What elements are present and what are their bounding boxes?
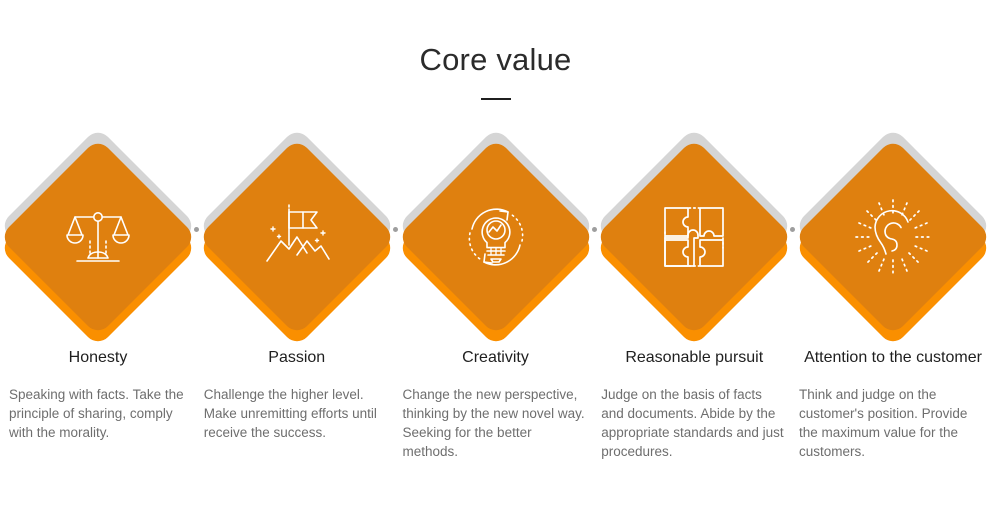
core-value-card: Attention to the customer Think and judg… (795, 130, 991, 461)
core-value-card-list: Honesty Speaking with facts. Take the pr… (0, 130, 991, 461)
lightbulb-refresh-icon (426, 167, 566, 307)
card-title: Reasonable pursuit (625, 347, 763, 369)
card-description: Judge on the basis of facts and document… (601, 385, 787, 461)
flag-on-mountain-icon (227, 167, 367, 307)
diamond-badge-attention-to-the-customer[interactable] (795, 130, 991, 335)
page-title: Core value (0, 40, 991, 80)
card-description: Speaking with facts. Take the principle … (9, 385, 195, 442)
card-title: Attention to the customer (804, 347, 982, 369)
diamond-badge-creativity[interactable] (398, 130, 594, 335)
diamond-badge-reasonable-pursuit[interactable] (596, 130, 792, 335)
core-value-card: Honesty Speaking with facts. Take the pr… (0, 130, 196, 442)
card-title: Honesty (69, 347, 128, 369)
listening-ear-icon (823, 167, 963, 307)
core-value-card: Reasonable pursuit Judge on the basis of… (596, 130, 792, 461)
diamond-badge-passion[interactable] (199, 130, 395, 335)
card-description: Think and judge on the customer's positi… (799, 385, 987, 461)
card-description: Challenge the higher level. Make unremit… (204, 385, 390, 442)
title-divider (481, 98, 511, 100)
diamond-badge-honesty[interactable] (0, 130, 196, 335)
card-description: Change the new perspective, thinking by … (403, 385, 589, 461)
puzzle-pieces-icon (624, 167, 764, 307)
card-title: Passion (268, 347, 325, 369)
core-value-card: Creativity Change the new perspective, t… (398, 130, 594, 461)
core-value-card: Passion Challenge the higher level. Make… (199, 130, 395, 442)
balance-scale-icon (28, 167, 168, 307)
card-title: Creativity (462, 347, 529, 369)
